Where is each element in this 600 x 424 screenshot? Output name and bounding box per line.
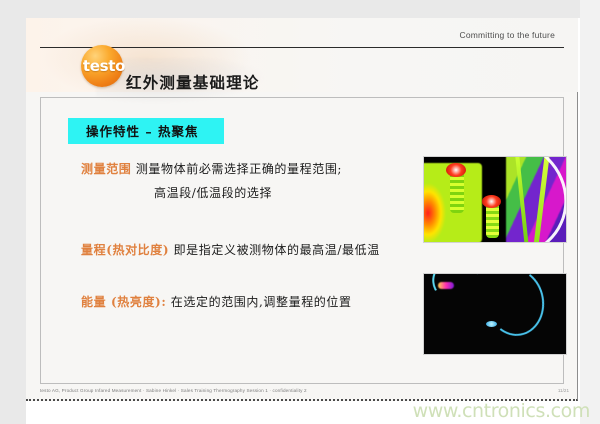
slide-page-number: 11/21 [558,388,569,393]
content-frame: 操作特性 – 热聚焦 测量范围 测量物体前必需选择正确的量程范围; 高温段/低温… [40,97,564,384]
section-subtitle-chip: 操作特性 – 热聚焦 [68,118,224,144]
slide-footer: testo AG, Product Group Infared Measurem… [40,388,307,393]
header-tagline: Committing to the future [459,30,555,40]
bullet-paragraph-3: 能量 (热亮度): 在选定的范围内,调整量程的位置 [81,293,352,312]
slide-title: 红外测量基础理论 [126,71,260,93]
page-margin-left [0,0,26,424]
thermal-2-tip-b [486,321,497,327]
bullet-text-1: 测量物体前必需选择正确的量程范围; [136,162,342,176]
page-margin-right [580,0,600,424]
bullet-paragraph-1-continuation: 高温段/低温段的选择 [154,184,272,203]
slide-page: testo Committing to the future 红外测量基础理论 … [0,0,600,424]
thermal-image-insulators [423,156,567,243]
bullet-keyword-3: 能量 (热亮度): [81,295,166,309]
site-watermark: www.cntronics.com [413,400,590,422]
bullet-text-2: 即是指定义被测物体的最高温/最低温 [174,243,380,257]
header-divider-rule [40,47,564,48]
bullet-keyword-1: 测量范围 [81,162,131,176]
bullet-paragraph-2: 量程(热对比度) 即是指定义被测物体的最高温/最低温 [81,241,380,260]
bullet-keyword-2: 量程(热对比度) [81,243,169,257]
page-margin-top [0,0,600,18]
presentation-slide: testo Committing to the future 红外测量基础理论 … [26,18,578,401]
thermal-image-cables [423,273,567,355]
bullet-text-3: 在选定的范围内,调整量程的位置 [171,295,352,309]
bullet-paragraph-1: 测量范围 测量物体前必需选择正确的量程范围; [81,160,342,179]
testo-logo-wordmark: testo [78,57,130,75]
thermal-2-tip-a [438,282,454,289]
